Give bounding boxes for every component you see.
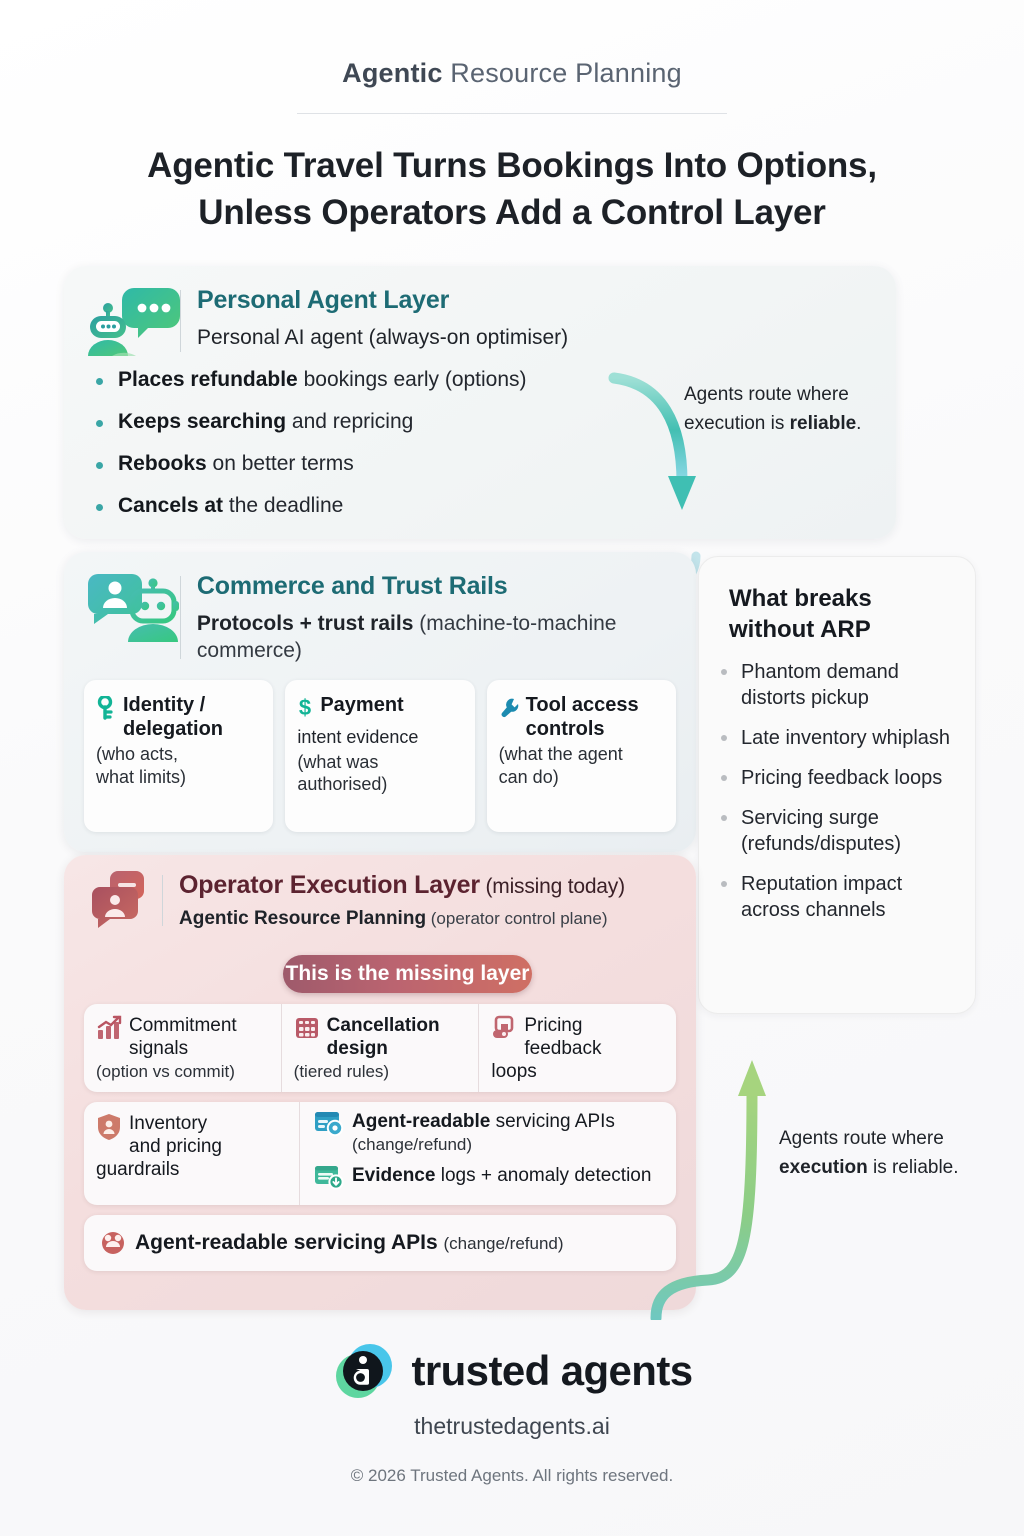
panel-commerce-trust-rails: Commerce and Trust Rails Protocols + tru…: [64, 552, 696, 852]
trust-card-title2: controls: [526, 718, 639, 742]
infographic-page: Agentic Resource Planning Agentic Travel…: [0, 0, 1024, 1536]
breaks-panel-list: Phantom demand distorts pickup Late inve…: [699, 645, 975, 923]
operator-cell-pricing-feedback-loops[interactable]: Pricing feedback loops: [478, 1004, 676, 1092]
cell-note: (tiered rules): [294, 1062, 389, 1081]
operator-card-row-2: Inventory and pricing guardrails Agent-r…: [84, 1102, 676, 1205]
line-rest: servicing APIs: [490, 1111, 615, 1132]
shield-person-icon: [96, 1113, 122, 1146]
line-note: (change/refund): [352, 1135, 472, 1154]
trust-card-title2: delegation: [123, 718, 223, 742]
status-badge-missing-layer: This is the missing layer: [283, 955, 532, 993]
operator-layer-header: Operator Execution Layer (missing today)…: [64, 855, 696, 932]
cell-line1: Commitment: [129, 1015, 237, 1036]
cell-line1: Cancellation: [327, 1015, 440, 1036]
operator-sub-bold: Agentic Resource Planning: [179, 908, 426, 929]
operator-cell-inventory-guardrails[interactable]: Inventory and pricing guardrails: [84, 1102, 299, 1205]
line-rest: logs + anomaly detection: [435, 1165, 651, 1186]
trust-card-title: Tool access: [526, 694, 639, 718]
operator-chat-icon: [84, 869, 162, 931]
api-gear-card-icon: [314, 1110, 344, 1143]
bullet-rest: the deadline: [223, 494, 343, 517]
operator-title-rest: (missing today): [480, 875, 625, 898]
header-divider: [297, 113, 727, 114]
evidence-log-icon: [314, 1164, 344, 1195]
annotation-bottom: Agents route where execution is reliable…: [779, 1125, 969, 1182]
key-icon: [96, 694, 116, 724]
brand-domain: thetrustedagents.ai: [0, 1413, 1024, 1440]
footer: trusted agents thetrustedagents.ai © 202…: [0, 1340, 1024, 1486]
operator-row3-text: Agent-readable servicing APIs (change/re…: [135, 1231, 564, 1255]
cell-line2: and pricing: [129, 1136, 222, 1157]
list-item: Phantom demand distorts pickup: [741, 659, 953, 711]
operator-line-servicing-apis[interactable]: Agent-readable servicing APIs (change/re…: [314, 1110, 676, 1156]
operator-layer-text: Operator Execution Layer (missing today)…: [179, 869, 674, 932]
line-bold: Agent-readable: [352, 1111, 490, 1132]
bullet-rest: and repricing: [286, 410, 413, 433]
breaks-panel-title: What breaks without ARP: [699, 557, 975, 645]
page-title: Agentic Travel Turns Bookings Into Optio…: [0, 142, 1024, 237]
commerce-layer-text: Commerce and Trust Rails Protocols + tru…: [197, 570, 674, 665]
list-item: Reputation impact across channels: [741, 871, 953, 923]
robot-chat-icon: [84, 284, 180, 358]
brand-kicker: Agentic Resource Planning: [0, 58, 1024, 89]
commerce-sub-bold: Protocols + trust rails: [197, 612, 413, 635]
bar-chart-up-icon: [96, 1015, 122, 1046]
pricing-tag-icon: [491, 1015, 517, 1046]
person-robot-icon: [84, 570, 180, 644]
header-rule: [180, 290, 181, 352]
cell-line3: loops: [491, 1061, 536, 1082]
trust-card-title: Payment: [320, 694, 403, 718]
personal-layer-header: Personal Agent Layer Personal AI agent (…: [64, 266, 896, 358]
brand-header: Agentic Resource Planning: [0, 0, 1024, 114]
dollar-icon: $: [297, 694, 313, 724]
operator-cell-commitment-signals[interactable]: Commitment signals (option vs commit): [84, 1004, 281, 1092]
personal-layer-text: Personal Agent Layer Personal AI agent (…: [197, 284, 874, 351]
operator-cell-cancellation-design[interactable]: Cancellation design (tiered rules): [281, 1004, 479, 1092]
operator-card-row-3[interactable]: Agent-readable servicing APIs (change/re…: [84, 1215, 676, 1271]
brand-logo-row: trusted agents: [332, 1340, 693, 1402]
servicing-api-icon: [100, 1230, 126, 1256]
trust-card-note: (who acts, what limits): [96, 743, 261, 788]
cell-line1: Inventory: [129, 1113, 207, 1134]
row3-note: (change/refund): [444, 1234, 564, 1253]
annotation-bottom-tail: is reliable.: [868, 1157, 959, 1178]
cell-line2: feedback: [524, 1038, 601, 1059]
trust-card-identity[interactable]: Identity / delegation (who acts, what li…: [84, 680, 273, 832]
operator-sub-rest: (operator control plane): [426, 909, 607, 928]
row3-bold: Agent-readable servicing APIs: [135, 1231, 438, 1254]
operator-cell-servicing-group: Agent-readable servicing APIs (change/re…: [299, 1102, 676, 1205]
annotation-bottom-bold: execution: [779, 1157, 868, 1178]
copyright-text: © 2026 Trusted Agents. All rights reserv…: [0, 1466, 1024, 1486]
brand-kicker-bold: Agentic: [342, 58, 442, 88]
bullet-bold: Rebooks: [118, 452, 207, 475]
brand-kicker-rest: Resource Planning: [443, 58, 682, 88]
trust-card-body: intent evidence: [297, 726, 462, 749]
header-rule: [162, 875, 163, 926]
trusted-agents-logo-icon: [332, 1340, 394, 1402]
cell-line2: signals: [129, 1038, 188, 1059]
panel-what-breaks-without-arp: What breaks without ARP Phantom demand d…: [698, 556, 976, 1014]
header-rule: [180, 576, 181, 659]
list-item: Pricing feedback loops: [741, 765, 953, 791]
cell-line1: Pricing: [524, 1015, 582, 1036]
trust-card-payment[interactable]: $ Payment intent evidence (what was auth…: [285, 680, 474, 832]
panel-operator-execution-layer: Operator Execution Layer (missing today)…: [64, 855, 696, 1310]
operator-cell-text: Inventory and pricing guardrails: [96, 1112, 289, 1182]
cell-line3: guardrails: [96, 1159, 179, 1180]
brand-name: trusted agents: [412, 1347, 693, 1395]
operator-cell-text: Cancellation design (tiered rules): [294, 1014, 469, 1084]
bullet-bold: Cancels at: [118, 494, 223, 517]
wrench-icon: [499, 694, 519, 724]
list-item: Rebooks on better terms: [96, 452, 896, 476]
operator-title-bold: Operator Execution Layer: [179, 871, 480, 899]
trust-card-note: (what was authorised): [297, 751, 462, 796]
operator-line-text: Evidence logs + anomaly detection: [352, 1164, 651, 1187]
annotation-top-tail: .: [856, 413, 861, 434]
operator-layer-title: Operator Execution Layer (missing today): [179, 871, 674, 900]
bullet-rest: on better terms: [207, 452, 354, 475]
commerce-layer-header: Commerce and Trust Rails Protocols + tru…: [64, 552, 696, 665]
trust-cards-row: Identity / delegation (who acts, what li…: [84, 680, 676, 832]
trust-card-title: Identity /: [123, 694, 223, 718]
svg-text:$: $: [299, 696, 311, 720]
operator-card-row-1: Commitment signals (option vs commit) Ca…: [84, 1004, 676, 1092]
operator-cell-text: Pricing feedback loops: [491, 1014, 666, 1084]
line-bold: Evidence: [352, 1165, 435, 1186]
annotation-top-bold: reliable: [790, 413, 857, 434]
bullet-bold: Places refundable: [118, 368, 298, 391]
trust-card-note: (what the agent can do): [499, 743, 664, 788]
calendar-grid-icon: [294, 1015, 320, 1046]
operator-line-text: Agent-readable servicing APIs (change/re…: [352, 1110, 615, 1156]
trust-card-tool-access[interactable]: Tool access controls (what the agent can…: [487, 680, 676, 832]
cell-note: (option vs commit): [96, 1062, 235, 1081]
operator-layer-subtitle: Agentic Resource Planning (operator cont…: [179, 907, 674, 932]
commerce-layer-title: Commerce and Trust Rails: [197, 572, 674, 601]
personal-layer-subtitle: Personal AI agent (always-on optimiser): [197, 324, 874, 351]
operator-line-evidence-logs[interactable]: Evidence logs + anomaly detection: [314, 1164, 676, 1195]
cell-line2: design: [327, 1038, 388, 1059]
list-item: Cancels at the deadline: [96, 494, 896, 518]
annotation-top: Agents route where execution is reliable…: [684, 381, 914, 438]
bullet-bold: Keeps searching: [118, 410, 286, 433]
personal-layer-title: Personal Agent Layer: [197, 286, 874, 315]
operator-cell-text: Commitment signals (option vs commit): [96, 1014, 271, 1084]
bullet-rest: bookings early (options): [298, 368, 527, 391]
list-item: Late inventory whiplash: [741, 725, 953, 751]
annotation-bottom-plain: Agents route where: [779, 1128, 944, 1149]
commerce-layer-subtitle: Protocols + trust rails (machine-to-mach…: [197, 610, 674, 665]
list-item: Servicing surge (refunds/disputes): [741, 805, 953, 857]
